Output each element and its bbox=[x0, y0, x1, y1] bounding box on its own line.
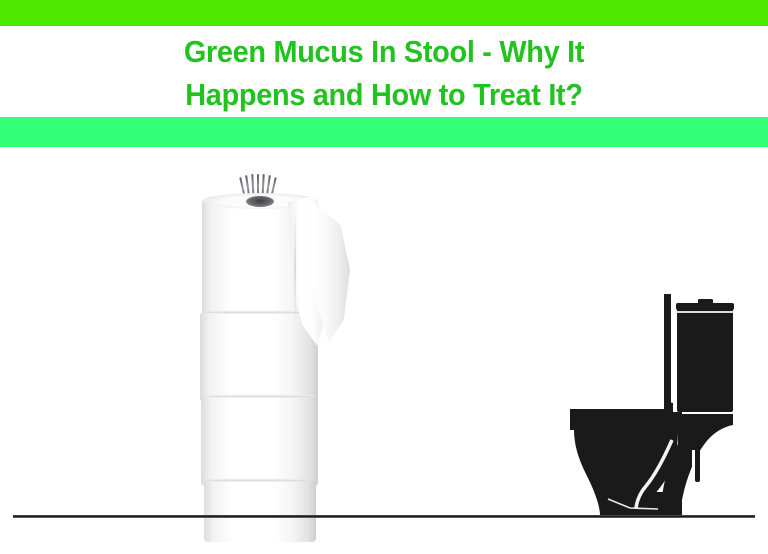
toilet-paper-roll bbox=[201, 396, 318, 486]
roll-core-hole bbox=[246, 196, 274, 207]
toilet-tank-lid bbox=[676, 303, 734, 310]
secondary-accent-bar bbox=[0, 117, 768, 147]
roll-seam bbox=[206, 478, 314, 482]
toilet-raised-lid bbox=[664, 294, 671, 410]
page-title-line-1: Green Mucus In Stool - Why It bbox=[86, 30, 681, 73]
toilet-lid-hinge bbox=[664, 401, 673, 410]
paper-sheet-fold bbox=[294, 208, 296, 326]
toilet-seat bbox=[570, 412, 682, 430]
page-title: Green Mucus In Stool - Why It Happens an… bbox=[86, 30, 681, 116]
roll-seam bbox=[203, 394, 316, 398]
toilet-paper-roll bbox=[204, 480, 316, 542]
toilet-tank-seam bbox=[677, 311, 733, 313]
hanging-paper-sheet bbox=[288, 196, 350, 346]
top-accent-bar bbox=[0, 0, 768, 26]
toilet-flush-button bbox=[698, 299, 713, 304]
toilet-seat-rim bbox=[570, 409, 673, 412]
illustration-stage bbox=[0, 147, 768, 554]
toilet-cistern-tank bbox=[677, 308, 733, 412]
toilet-silhouette bbox=[560, 262, 745, 517]
ground-line bbox=[13, 515, 755, 518]
article-header-banner: Green Mucus In Stool - Why It Happens an… bbox=[0, 0, 768, 554]
toilet-side-pipe-gap bbox=[692, 450, 695, 482]
title-area: Green Mucus In Stool - Why It Happens an… bbox=[0, 26, 768, 117]
toilet-paper-roll-stack bbox=[196, 174, 348, 518]
page-title-line-2: Happens and How to Treat It? bbox=[86, 73, 681, 116]
toilet-side-pipe bbox=[695, 450, 700, 482]
